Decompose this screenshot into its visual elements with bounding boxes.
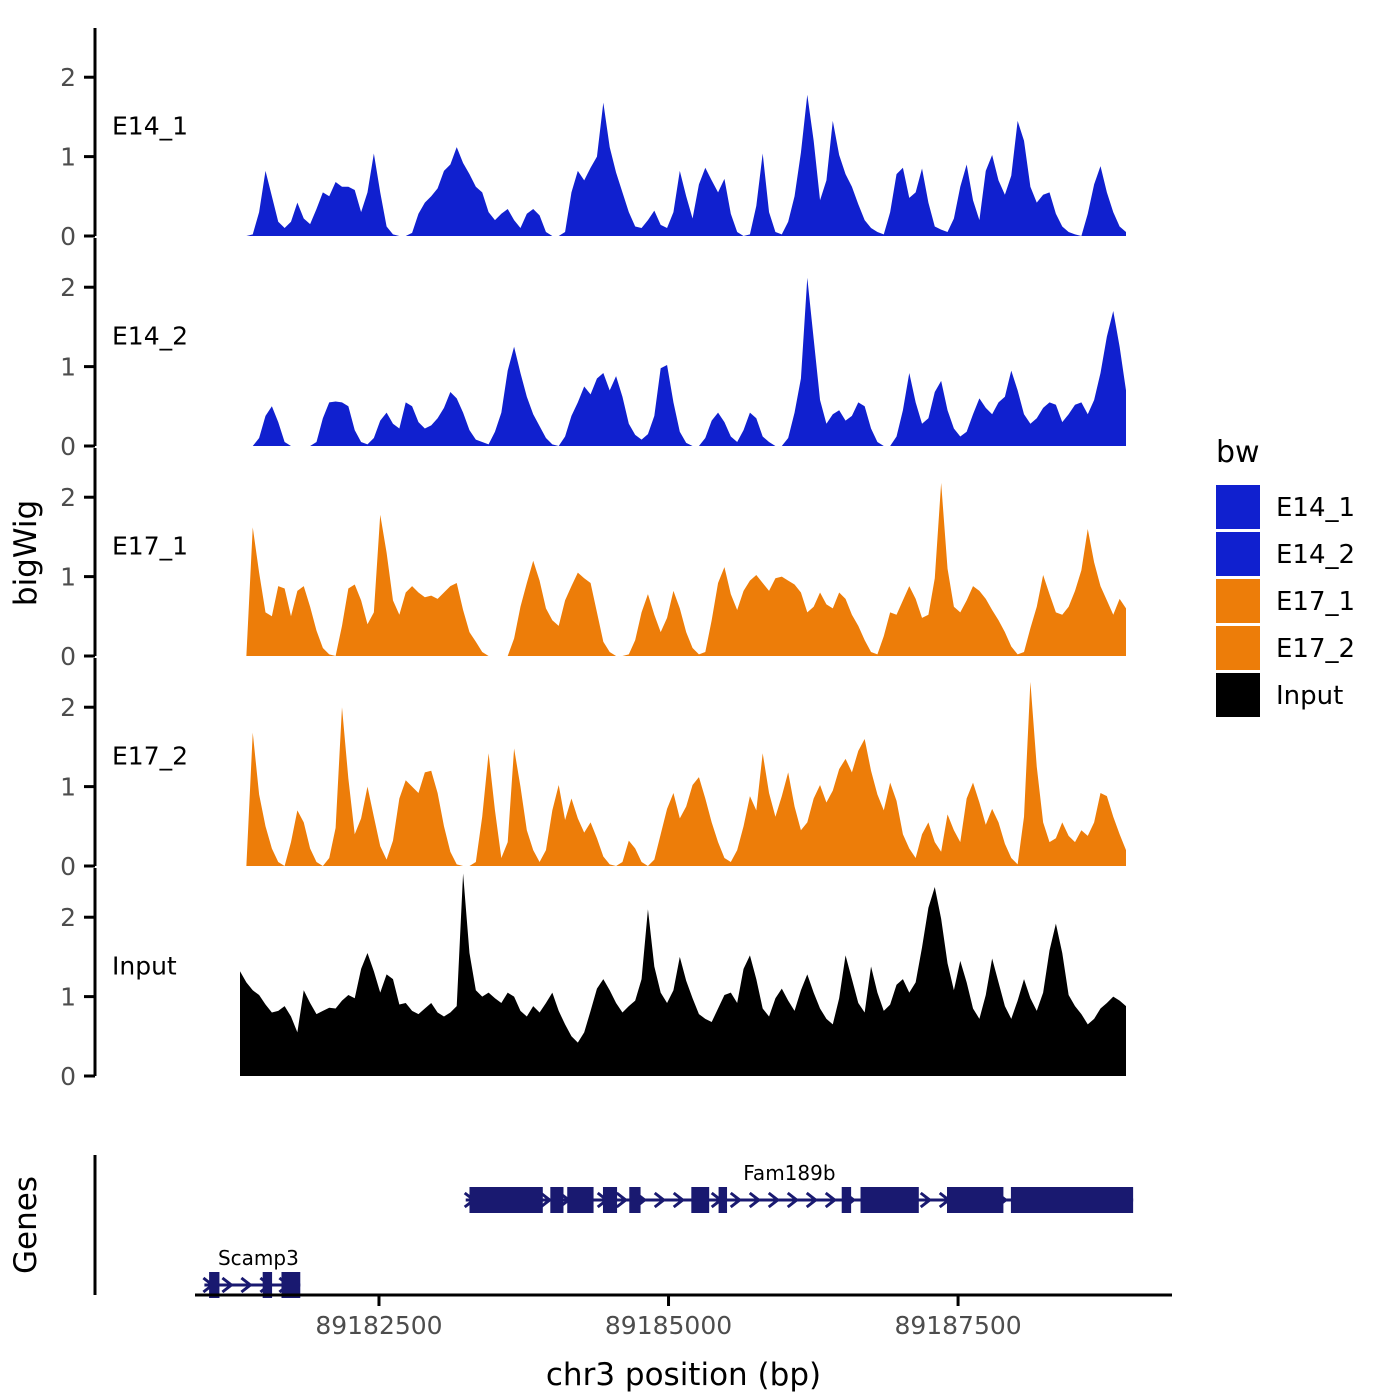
genome-browser-figure: 012E14_1012E14_2012E17_1012E17_2012Input…: [0, 0, 1400, 1400]
gene-exon-box: [842, 1187, 851, 1213]
gene-exon-box: [691, 1187, 709, 1213]
track-name-label: E17_1: [112, 531, 188, 560]
legend-swatch: [1216, 626, 1260, 670]
y-tick-label: 0: [60, 852, 76, 881]
gene-exon-box: [861, 1187, 919, 1213]
track-name-label: E14_1: [112, 111, 188, 140]
x-axis: 891825008918500089187500chr3 position (b…: [195, 1295, 1172, 1393]
coverage-area-e17_2: [240, 682, 1126, 866]
legend-item-e14_2[interactable]: E14_2: [1216, 532, 1355, 576]
genes-panel-label: Genes: [8, 1176, 44, 1274]
track-panel-input: 012Input: [60, 868, 1126, 1091]
gene-exon-box: [1011, 1187, 1133, 1213]
legend-label: E17_1: [1276, 587, 1355, 617]
gene-exon-box: [469, 1187, 542, 1213]
y-tick-label: 0: [60, 432, 76, 461]
y-tick-label: 2: [60, 903, 76, 932]
y-tick-label: 1: [60, 143, 76, 172]
track-name-label: E14_2: [112, 321, 188, 350]
legend-item-e17_1[interactable]: E17_1: [1216, 579, 1355, 623]
track-panel-e17_1: 012E17_1: [60, 448, 1126, 671]
coverage-area-e14_1: [240, 95, 1126, 236]
track-panel-e14_2: 012E14_2: [60, 238, 1126, 461]
track-name-label: Input: [112, 951, 177, 980]
legend-label: E17_2: [1276, 634, 1355, 664]
gene-scamp3[interactable]: Scamp3: [203, 1246, 300, 1298]
y-tick-label: 2: [60, 63, 76, 92]
legend-item-e17_2[interactable]: E17_2: [1216, 626, 1355, 670]
legend: bwE14_1E14_2E17_1E17_2Input: [1216, 435, 1355, 717]
genes-panel: GenesFam189bScamp3: [8, 1155, 1133, 1298]
track-panel-e14_1: 012E14_1: [60, 28, 1126, 251]
y-tick-label: 2: [60, 273, 76, 302]
legend-swatch: [1216, 673, 1260, 717]
y-tick-label: 1: [60, 353, 76, 382]
y-tick-label: 1: [60, 563, 76, 592]
track-name-label: E17_2: [112, 741, 188, 770]
legend-swatch: [1216, 579, 1260, 623]
x-tick-label: 89182500: [315, 1311, 442, 1340]
y-tick-label: 0: [60, 642, 76, 671]
x-tick-label: 89187500: [894, 1311, 1021, 1340]
coverage-area-e14_2: [240, 278, 1126, 446]
legend-swatch: [1216, 532, 1260, 576]
coverage-area-e17_1: [240, 483, 1126, 656]
y-axis-title: bigWig: [8, 500, 44, 606]
gene-exon-box: [550, 1187, 563, 1213]
x-axis-title: chr3 position (bp): [546, 1357, 821, 1393]
legend-label: E14_1: [1276, 493, 1355, 523]
legend-title: bw: [1216, 435, 1260, 470]
y-tick-label: 0: [60, 1062, 76, 1091]
gene-exon-box: [947, 1187, 1003, 1213]
x-tick-label: 89185000: [605, 1311, 732, 1340]
y-tick-label: 1: [60, 983, 76, 1012]
legend-item-e14_1[interactable]: E14_1: [1216, 485, 1355, 529]
y-tick-label: 1: [60, 773, 76, 802]
gene-fam189b[interactable]: Fam189b: [465, 1161, 1133, 1213]
legend-label: E14_2: [1276, 540, 1355, 570]
gene-exon-box: [629, 1187, 640, 1213]
legend-item-input[interactable]: Input: [1216, 673, 1343, 717]
figure-canvas: 012E14_1012E14_2012E17_1012E17_2012Input…: [0, 0, 1400, 1400]
y-tick-label: 0: [60, 222, 76, 251]
gene-name-label: Scamp3: [218, 1246, 299, 1270]
gene-exon-box: [567, 1187, 593, 1213]
gene-exon-box: [719, 1187, 727, 1213]
gene-name-label: Fam189b: [743, 1161, 835, 1185]
y-tick-label: 2: [60, 693, 76, 722]
legend-label: Input: [1276, 681, 1343, 711]
legend-swatch: [1216, 485, 1260, 529]
gene-exon-box: [603, 1187, 617, 1213]
coverage-area-input: [240, 874, 1126, 1076]
track-panel-e17_2: 012E17_2: [60, 658, 1126, 881]
y-tick-label: 2: [60, 483, 76, 512]
